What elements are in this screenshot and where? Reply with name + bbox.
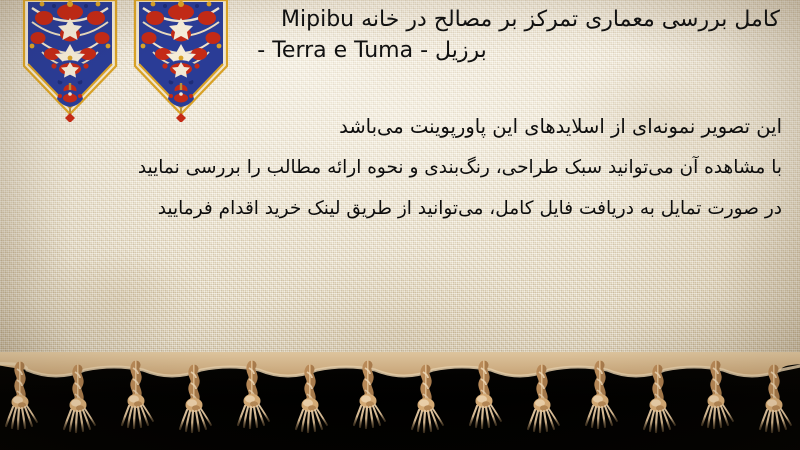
title-line-2: برزیل - Terra e Tuma - bbox=[16, 35, 784, 66]
slide-text-block: کامل بررسی معماری تمرکز بر مصالح در خانه… bbox=[0, 0, 800, 374]
body-line-3: در صورت تمایل به دریافت فایل کامل، می‌تو… bbox=[12, 188, 782, 229]
body-line-1: این تصویر نمونه‌ای از اسلایدهای این پاور… bbox=[12, 106, 782, 147]
body-line-2: با مشاهده آن می‌توانید سبک طراحی، رنگ‌بن… bbox=[12, 147, 782, 188]
page-title: کامل بررسی معماری تمرکز بر مصالح در خانه… bbox=[16, 4, 784, 66]
dark-base-background bbox=[0, 362, 800, 450]
slide-canvas: کامل بررسی معماری تمرکز بر مصالح در خانه… bbox=[0, 0, 800, 450]
title-line-1: کامل بررسی معماری تمرکز بر مصالح در خانه… bbox=[16, 4, 784, 35]
body-text: این تصویر نمونه‌ای از اسلایدهای این پاور… bbox=[12, 106, 782, 229]
